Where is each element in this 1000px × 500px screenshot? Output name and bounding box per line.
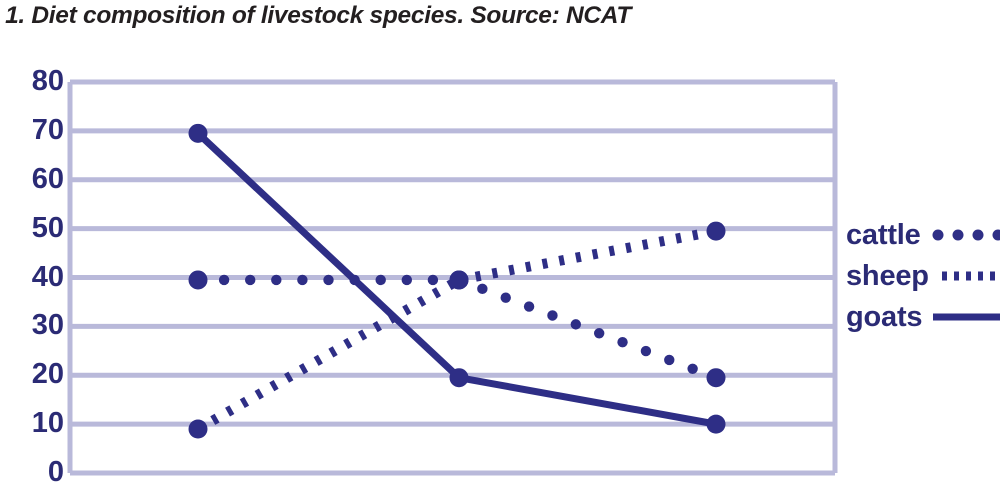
chart-legend: cattle sheep bbox=[846, 214, 1000, 337]
y-tick-label: 30 bbox=[0, 311, 64, 340]
y-tick-label: 70 bbox=[0, 116, 64, 145]
legend-label-cattle: cattle bbox=[846, 220, 921, 250]
legend-label-goats: goats bbox=[846, 302, 922, 332]
y-tick-label: 0 bbox=[0, 458, 64, 487]
y-tick-label: 60 bbox=[0, 165, 64, 194]
y-tick-label: 50 bbox=[0, 214, 64, 243]
legend-swatch-sheep-icon bbox=[940, 266, 1000, 286]
legend-item-cattle[interactable]: cattle bbox=[846, 214, 1000, 255]
legend-swatch-cattle-icon bbox=[932, 225, 1000, 245]
y-tick-label: 20 bbox=[0, 360, 64, 389]
legend-item-sheep[interactable]: sheep bbox=[846, 255, 1000, 296]
legend-label-sheep: sheep bbox=[846, 261, 929, 291]
y-tick-label: 80 bbox=[0, 67, 64, 96]
series-sheep bbox=[189, 222, 726, 439]
legend-item-goats[interactable]: goats bbox=[846, 296, 1000, 337]
figure-container: re 1. Diet composition of livestock spec… bbox=[0, 0, 1000, 500]
y-tick-label: 10 bbox=[0, 409, 64, 438]
y-axis-tick-labels: 80706050403020100 bbox=[0, 0, 64, 500]
y-tick-label: 40 bbox=[0, 263, 64, 292]
legend-swatch-goats-icon bbox=[933, 307, 1000, 327]
